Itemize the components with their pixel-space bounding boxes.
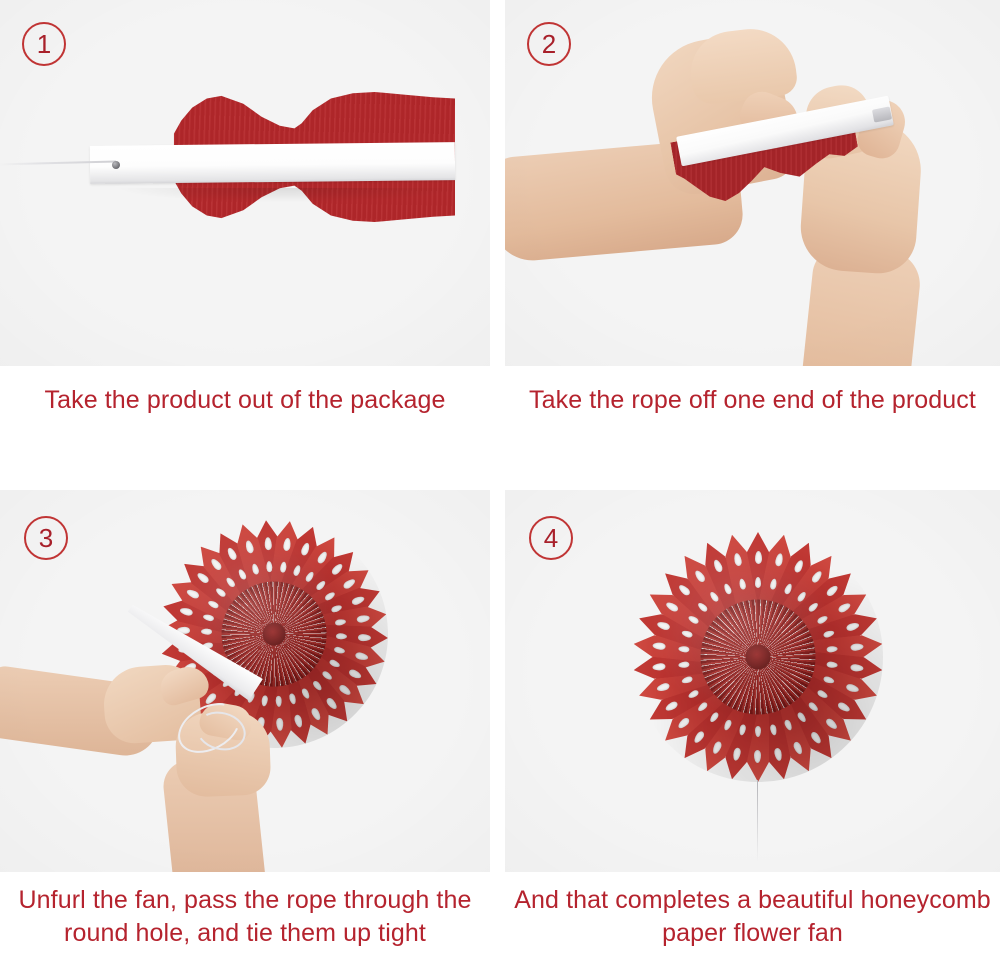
fan-center-knot bbox=[746, 645, 771, 670]
step-2-caption-area: Take the rope off one end of the product bbox=[505, 366, 1000, 440]
step-badge-2: 2 bbox=[527, 22, 571, 66]
step-4-caption: And that completes a beautiful honeycomb… bbox=[511, 884, 994, 950]
step-4-image: 4 bbox=[505, 490, 1000, 872]
fan-cutout-outer bbox=[264, 537, 272, 550]
step-3-image: 3 bbox=[0, 490, 490, 872]
step-1-caption-area: Take the product out of the package bbox=[0, 366, 490, 440]
step-4-caption-area: And that completes a beautiful honeycomb… bbox=[505, 872, 1000, 956]
step-panel-4: 4 And that completes a beautiful honeyco… bbox=[505, 490, 1000, 956]
step-1-image: 1 bbox=[0, 0, 490, 366]
fan-cutout-outer bbox=[358, 633, 371, 640]
step-badge-4: 4 bbox=[529, 516, 573, 560]
finished-paper-fan bbox=[633, 532, 883, 782]
step-2-caption: Take the rope off one end of the product bbox=[529, 384, 976, 417]
folded-fan-shadow bbox=[120, 188, 455, 202]
step-panel-2: 2 Take the rope off one end of the produ… bbox=[505, 0, 1000, 440]
step-3-caption-area: Unfurl the fan, pass the rope through th… bbox=[0, 872, 490, 956]
step-3-caption: Unfurl the fan, pass the rope through th… bbox=[6, 884, 484, 950]
step-panel-3: 3 Unfurl the fan, pass the rope through … bbox=[0, 490, 490, 956]
step-badge-1: 1 bbox=[22, 22, 66, 66]
instruction-sheet: 1 Take the product out of the package 2 bbox=[0, 0, 1000, 956]
left-hand-knuckles bbox=[686, 24, 799, 106]
fan-cutout-outer bbox=[755, 551, 762, 564]
grommet-hole-icon bbox=[112, 161, 120, 169]
step-1-caption: Take the product out of the package bbox=[45, 384, 446, 417]
folded-fan-graphic bbox=[90, 92, 455, 222]
step-badge-3: 3 bbox=[24, 516, 68, 560]
step-2-image: 2 bbox=[505, 0, 1000, 366]
hanging-rope bbox=[757, 780, 758, 862]
fan-cutout-inner bbox=[755, 577, 761, 588]
white-cardboard-strip bbox=[90, 142, 455, 184]
step-panel-1: 1 Take the product out of the package bbox=[0, 0, 490, 440]
